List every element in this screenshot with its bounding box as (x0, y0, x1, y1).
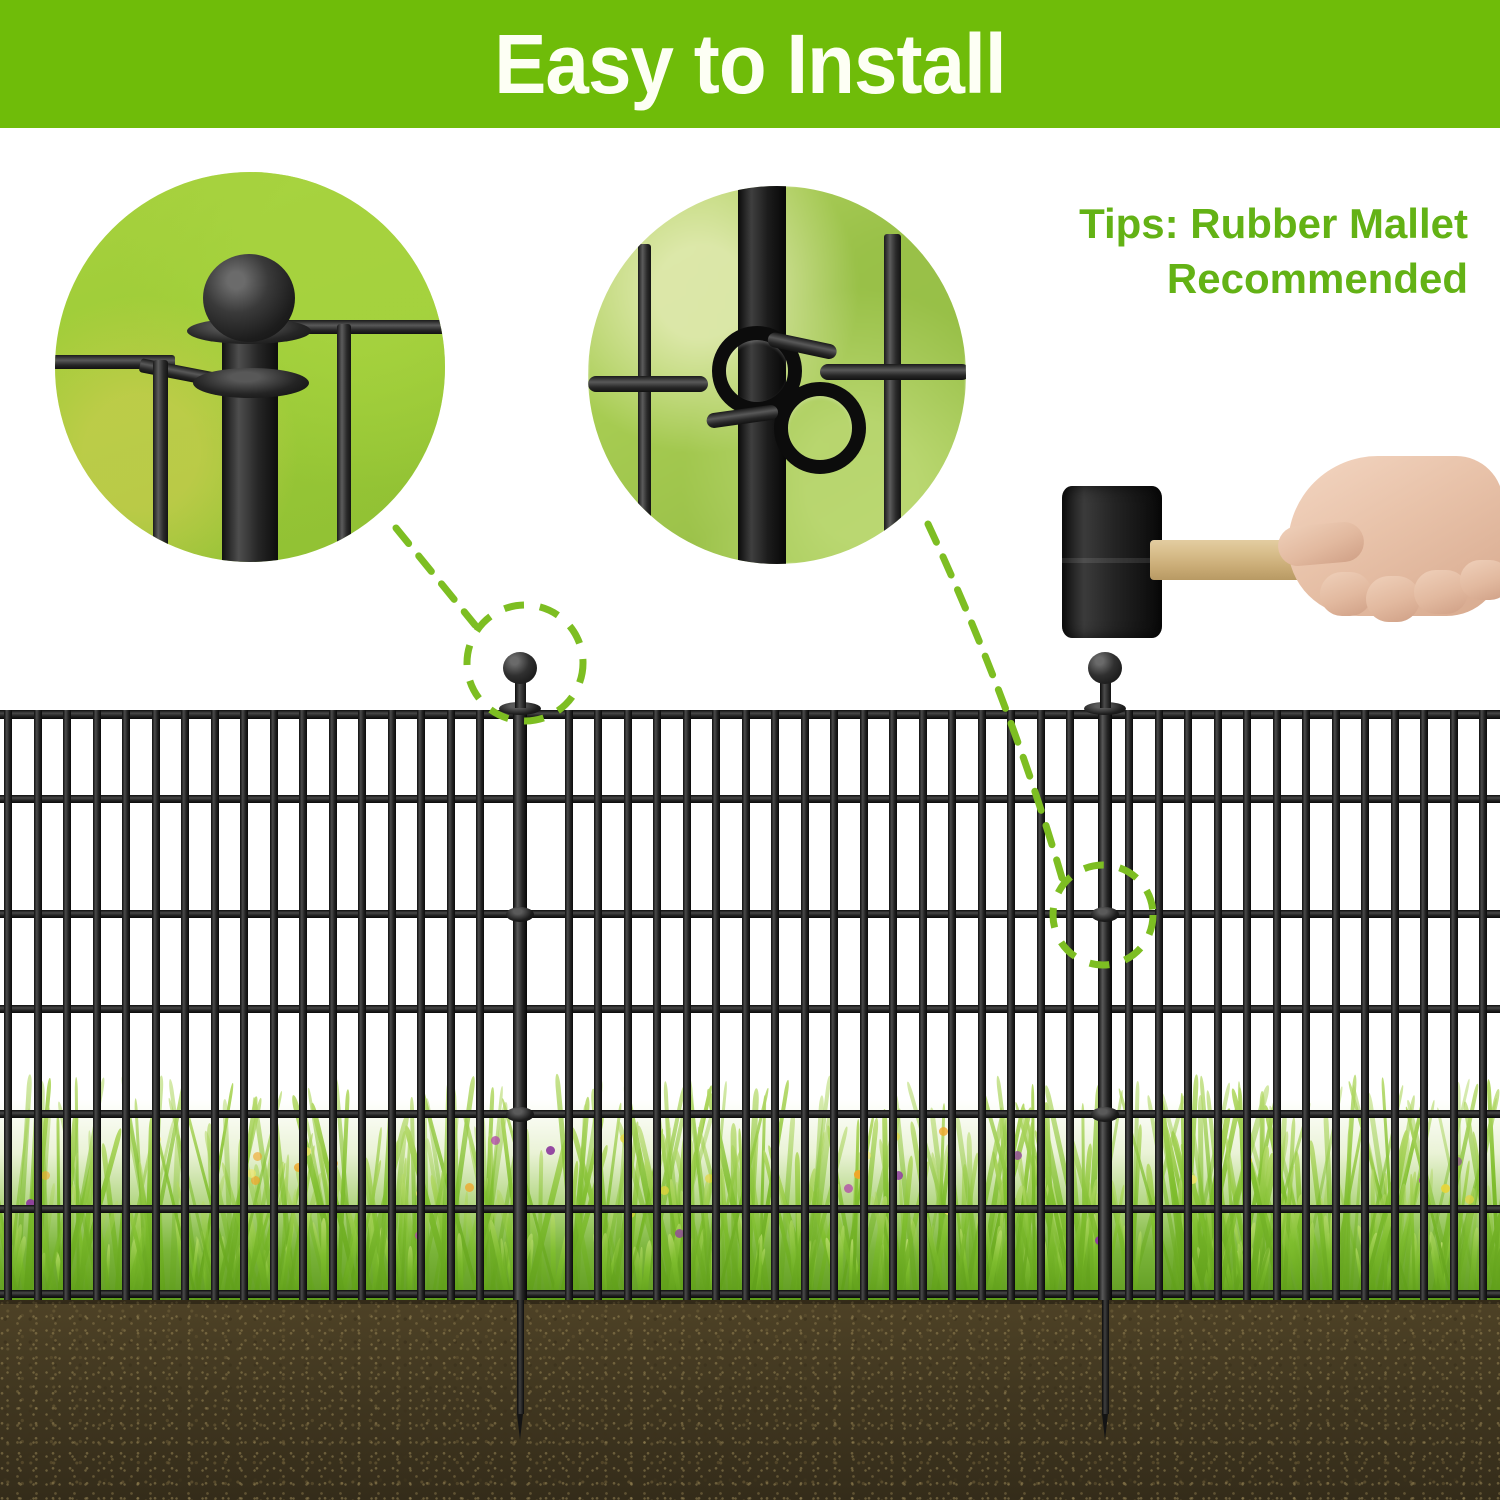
wildflower (546, 1146, 555, 1155)
fence-bar (1361, 710, 1369, 1300)
hand-finger-4 (1460, 560, 1500, 600)
callout-hook-closeup (588, 186, 966, 564)
fence-bar (1420, 710, 1428, 1300)
fence-bar (948, 710, 956, 1300)
tips-line-2: Recommended (1079, 251, 1468, 306)
wildflower (247, 1169, 256, 1178)
s-hook-knot (506, 907, 534, 922)
fence-bar (299, 710, 307, 1300)
fence-post (513, 710, 527, 1300)
fence-bar (653, 710, 661, 1300)
fence-bar (919, 710, 927, 1300)
callout-ball-finial (203, 254, 295, 342)
callout-hook-bar-right (884, 234, 901, 534)
fence-bar (1243, 710, 1251, 1300)
callout-hook-wire-right (820, 364, 966, 380)
soil-layer (0, 1300, 1500, 1500)
fence-bar (712, 710, 720, 1300)
callout-post-lower-ring (193, 368, 309, 398)
fence-bar (447, 710, 455, 1300)
fence-bar (624, 710, 632, 1300)
fence-bar (1007, 710, 1015, 1300)
fence-bar (270, 710, 278, 1300)
fence-bar (1273, 710, 1281, 1300)
fence-bar (329, 710, 337, 1300)
soil-surface-line (0, 1300, 1500, 1304)
fence-bar (240, 710, 248, 1300)
page-title: Easy to Install (494, 22, 1005, 106)
fence-bar (1037, 710, 1045, 1300)
fence-bar (742, 710, 750, 1300)
fence-bar (1479, 710, 1487, 1300)
fence-bar (93, 710, 101, 1300)
fence-bar (4, 710, 12, 1300)
fence-bar (830, 710, 838, 1300)
fence-bar (1332, 710, 1340, 1300)
fence-bar (1125, 710, 1133, 1300)
fence-bar (1066, 710, 1074, 1300)
wildflower (844, 1184, 853, 1193)
fence-bar (211, 710, 219, 1300)
rubber-mallet-with-hand (1020, 440, 1500, 675)
fence-bar (860, 710, 868, 1300)
wildflower (939, 1127, 948, 1136)
hand-finger-2 (1366, 576, 1420, 622)
wildflower (1465, 1195, 1474, 1204)
fence-bar (594, 710, 602, 1300)
fence-bar (1214, 710, 1222, 1300)
tips-line-1: Tips: Rubber Mallet (1079, 196, 1468, 251)
fence-bar (181, 710, 189, 1300)
fence-bar (565, 710, 573, 1300)
fence-bar (388, 710, 396, 1300)
wildflower (253, 1152, 262, 1161)
callout-finial-closeup (55, 172, 445, 562)
ground-stake-tip (1102, 1414, 1108, 1440)
product-infographic: Easy to Install Tips: Rubber Mallet Reco… (0, 0, 1500, 1500)
fence-bar (417, 710, 425, 1300)
fence-bar (1302, 710, 1310, 1300)
callout-bar-right (337, 324, 351, 562)
callout-hook-wire-left (588, 376, 708, 392)
fence-bar (34, 710, 42, 1300)
post-finial-ball (1088, 652, 1122, 684)
ground-stake-tip (517, 1414, 523, 1440)
fence-bar (358, 710, 366, 1300)
fence-bar (122, 710, 130, 1300)
fence-bar (889, 710, 897, 1300)
fence-bar (978, 710, 986, 1300)
fence-bar (771, 710, 779, 1300)
post-finial-ball (503, 652, 537, 684)
header-banner: Easy to Install (0, 0, 1500, 128)
ground-stake (517, 1300, 524, 1414)
fence-bar (1184, 710, 1192, 1300)
tips-note: Tips: Rubber Mallet Recommended (1079, 196, 1468, 307)
callout-bar-left (153, 360, 168, 562)
fence-bar (801, 710, 809, 1300)
fence-bar (683, 710, 691, 1300)
s-hook-knot (506, 1107, 534, 1122)
wildflower (465, 1183, 474, 1192)
ground-stake (1102, 1300, 1109, 1414)
wildflower (660, 1186, 669, 1195)
callout-post-shaft (222, 327, 278, 562)
fence-bar (1450, 710, 1458, 1300)
fence-bar (1391, 710, 1399, 1300)
wildflower (41, 1171, 50, 1180)
callout-s-hook-lower-loop (774, 382, 866, 474)
grass-blade (321, 1218, 326, 1300)
fence-bar (152, 710, 160, 1300)
fence-bar (1155, 710, 1163, 1300)
s-hook-knot (1091, 907, 1119, 922)
fence-scene (0, 700, 1500, 1500)
hand-finger-1 (1320, 572, 1372, 616)
mallet-head-band (1062, 558, 1162, 563)
fence-bar (63, 710, 71, 1300)
s-hook-knot (1091, 1107, 1119, 1122)
fence-post (1098, 710, 1112, 1300)
fence-bar (476, 710, 484, 1300)
